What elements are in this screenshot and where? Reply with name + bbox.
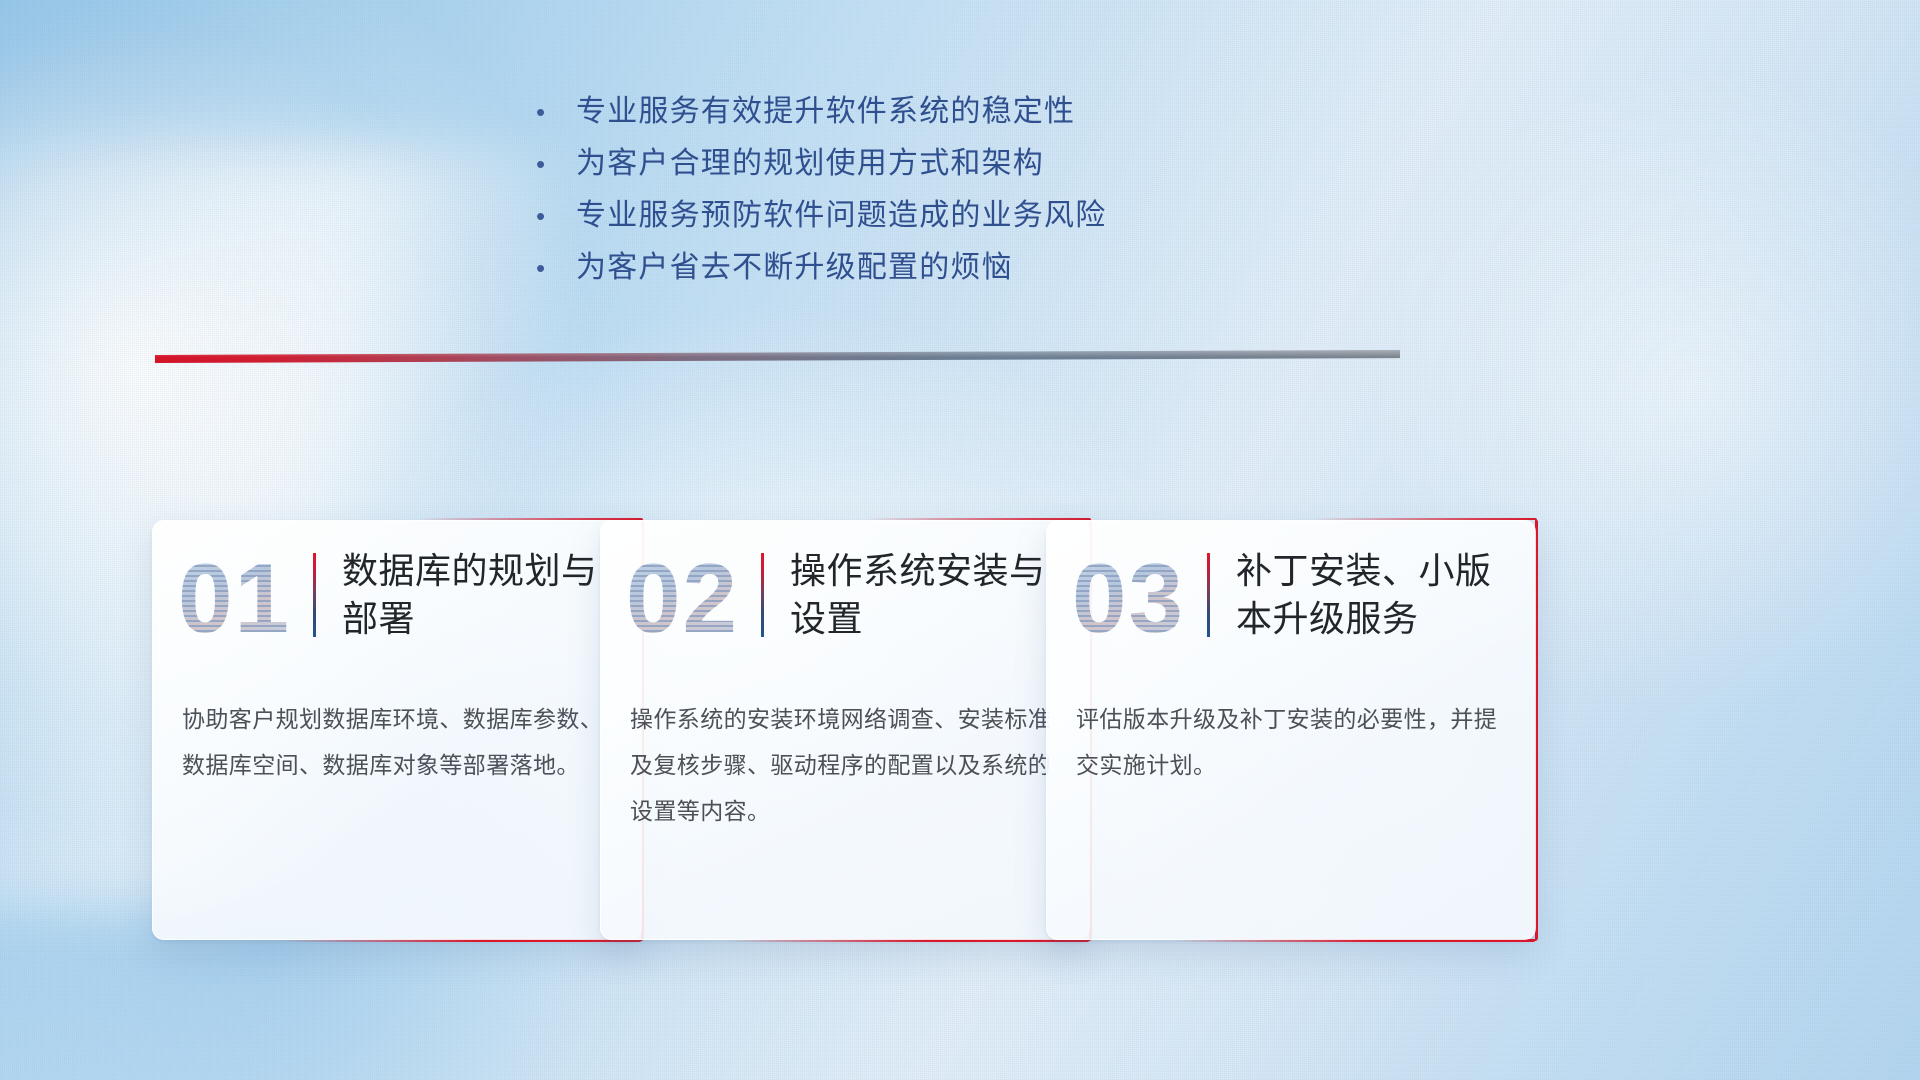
card-title: 操作系统安装与设置 (790, 547, 1068, 643)
bullet-text: 专业服务预防软件问题造成的业务风险 (576, 190, 1106, 242)
card-vertical-divider (761, 553, 764, 637)
bullet-dot-icon: • (536, 138, 576, 190)
card-header: 02 操作系统安装与设置 (600, 520, 1090, 670)
bullet-text: 专业服务有效提升软件系统的稳定性 (576, 86, 1075, 138)
service-cards-row: 01 数据库的规划与部署 协助客户规划数据库环境、数据库参数、数据库空间、数据库… (0, 520, 1920, 940)
service-card-02[interactable]: 02 操作系统安装与设置 操作系统的安装环境网络调查、安装标准及复核步骤、驱动程… (600, 520, 1090, 940)
card-description: 协助客户规划数据库环境、数据库参数、数据库空间、数据库对象等部署落地。 (152, 670, 642, 788)
bullet-dot-icon: • (536, 242, 576, 294)
card-header: 03 补丁安装、小版本升级服务 (1046, 520, 1536, 670)
card-header: 01 数据库的规划与部署 (152, 520, 642, 670)
list-item: • 为客户合理的规划使用方式和架构 (536, 138, 1396, 190)
card-number: 03 (1072, 543, 1185, 647)
card-vertical-divider (313, 553, 316, 637)
bullet-text: 为客户合理的规划使用方式和架构 (576, 138, 1044, 190)
bullet-dot-icon: • (536, 86, 576, 138)
card-number: 01 (178, 543, 291, 647)
list-item: • 为客户省去不断升级配置的烦恼 (536, 242, 1396, 294)
bullet-dot-icon: • (536, 190, 576, 242)
service-card-03[interactable]: 03 补丁安装、小版本升级服务 评估版本升级及补丁安装的必要性，并提交实施计划。 (1046, 520, 1536, 940)
section-divider (155, 350, 1400, 363)
card-number: 02 (626, 543, 739, 647)
card-vertical-divider (1207, 553, 1210, 637)
divider-sheen (155, 350, 1400, 363)
bullet-text: 为客户省去不断升级配置的烦恼 (576, 242, 1013, 294)
card-description: 评估版本升级及补丁安装的必要性，并提交实施计划。 (1046, 670, 1536, 788)
card-title: 数据库的规划与部署 (342, 547, 620, 643)
service-card-01[interactable]: 01 数据库的规划与部署 协助客户规划数据库环境、数据库参数、数据库空间、数据库… (152, 520, 642, 940)
benefits-bullet-list: • 专业服务有效提升软件系统的稳定性 • 为客户合理的规划使用方式和架构 • 专… (536, 86, 1396, 294)
list-item: • 专业服务有效提升软件系统的稳定性 (536, 86, 1396, 138)
card-title: 补丁安装、小版本升级服务 (1236, 547, 1514, 643)
list-item: • 专业服务预防软件问题造成的业务风险 (536, 190, 1396, 242)
card-description: 操作系统的安装环境网络调查、安装标准及复核步骤、驱动程序的配置以及系统的设置等内… (600, 670, 1090, 834)
